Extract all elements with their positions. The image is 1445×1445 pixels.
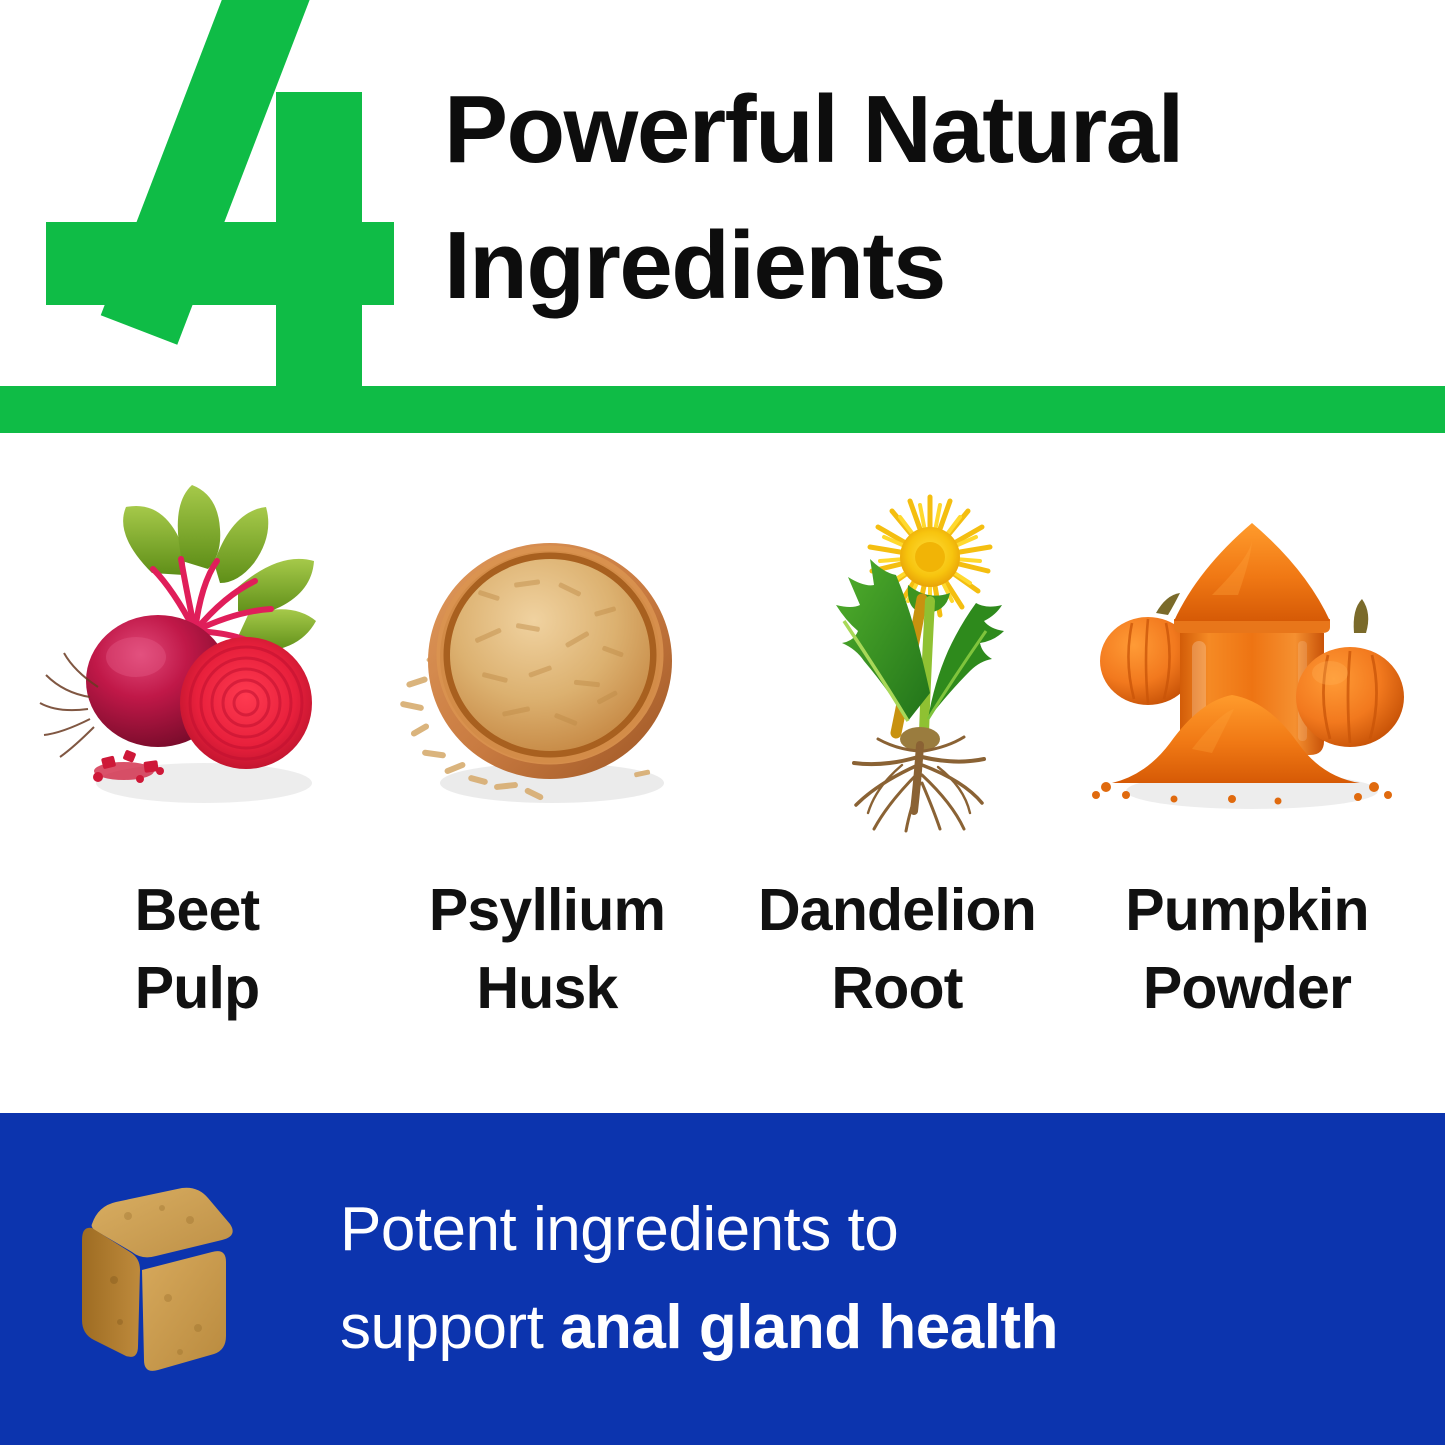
label-line-1: Beet [135, 872, 260, 950]
footer-line-2-bold: anal gland health [560, 1293, 1058, 1362]
title-line-1: Powerful Natural [444, 62, 1404, 198]
ingredient-card-psyllium-husk: Psyllium Husk [372, 465, 722, 1028]
footer-line-2: support anal gland health [340, 1279, 1058, 1377]
dandelion-roots [854, 737, 984, 831]
footer-line-2-normal: support [340, 1293, 560, 1362]
psyllium-husk-image [382, 465, 712, 850]
ingredients-row: Beet Pulp [0, 433, 1445, 1113]
label-line-1: Psyllium [429, 872, 665, 950]
ingredient-label-psyllium-husk: Psyllium Husk [429, 872, 665, 1028]
label-line-2: Powder [1125, 950, 1369, 1028]
label-line-2: Husk [429, 950, 665, 1028]
big-number-four [38, 0, 438, 433]
footer-line-1: Potent ingredients to [340, 1181, 1058, 1279]
ingredient-label-pumpkin-powder: Pumpkin Powder [1125, 872, 1369, 1028]
four-vertical-stroke [276, 92, 362, 392]
ingredient-card-pumpkin-powder: Pumpkin Powder [1072, 465, 1422, 1028]
ingredient-card-beet-pulp: Beet Pulp [22, 465, 372, 1028]
dandelion-leaf-right [928, 603, 1004, 719]
title-line-2: Ingredients [444, 198, 1404, 334]
footer-banner: Potent ingredients to support anal gland… [0, 1113, 1445, 1445]
ingredient-label-beet-pulp: Beet Pulp [135, 872, 260, 1028]
label-line-2: Root [758, 950, 1036, 1028]
header-section: Powerful Natural Ingredients [0, 0, 1445, 433]
chew-right-face [142, 1251, 226, 1371]
beet-pulp-image [32, 465, 362, 850]
ingredient-label-dandelion-root: Dandelion Root [758, 872, 1036, 1028]
footer-message: Potent ingredients to support anal gland… [330, 1181, 1058, 1377]
powder-cone [1174, 523, 1330, 621]
ingredient-card-dandelion-root: Dandelion Root [722, 465, 1072, 1028]
label-line-2: Pulp [135, 950, 260, 1028]
label-line-1: Dandelion [758, 872, 1036, 950]
chew-treat-image [0, 1154, 330, 1404]
dandelion-root-image [732, 465, 1062, 850]
ingredient-infographic: Powerful Natural Ingredients [0, 0, 1445, 1445]
label-line-1: Pumpkin [1125, 872, 1369, 950]
green-divider-bar [0, 386, 1445, 433]
pumpkin-powder-image [1082, 465, 1412, 850]
beet-half [180, 637, 312, 769]
page-title: Powerful Natural Ingredients [444, 62, 1404, 335]
